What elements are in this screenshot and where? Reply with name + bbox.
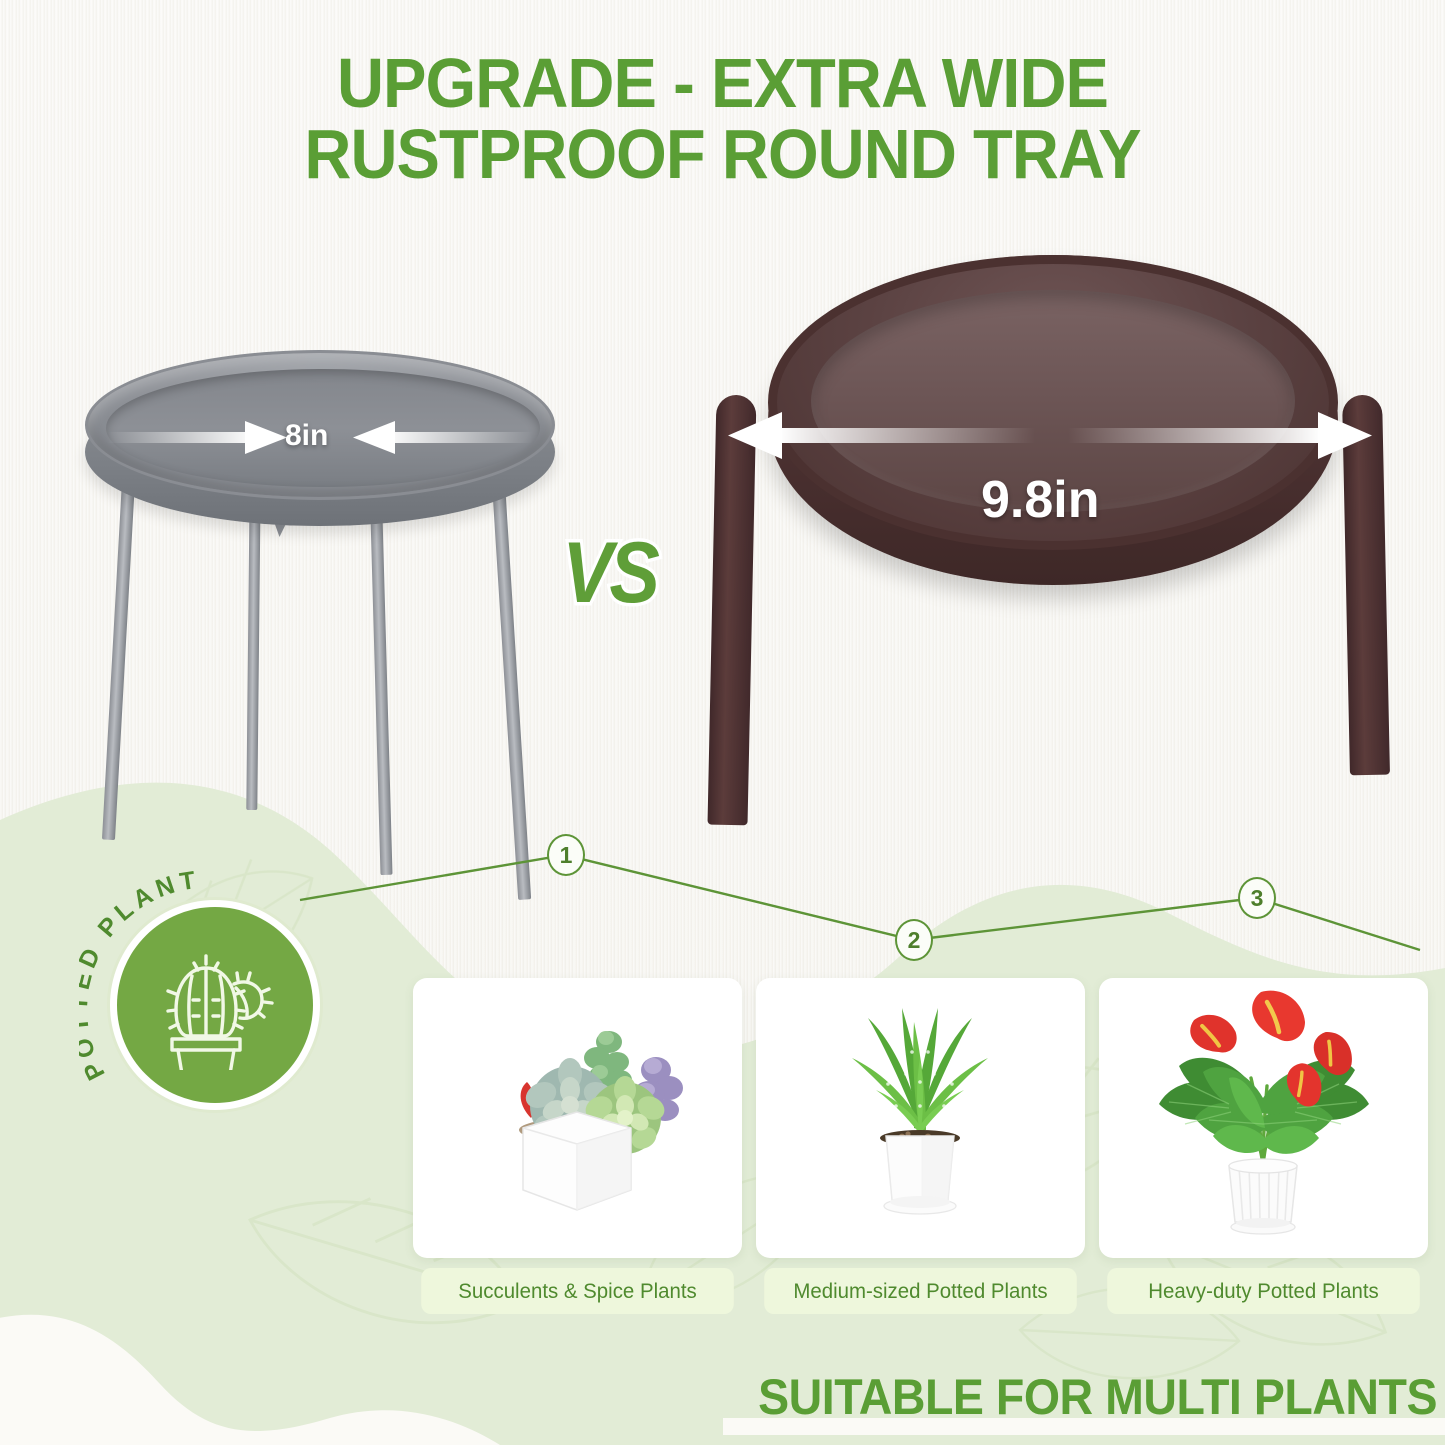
potted-plant-badge: POTTED PLANT — [95, 885, 335, 1125]
anthurium-plant-icon — [1099, 978, 1428, 1258]
plant-card[interactable] — [413, 978, 742, 1258]
succulent-arrangement-icon — [413, 978, 742, 1258]
aloe-vera-plant-icon — [756, 978, 1085, 1258]
footer-headline: SUITABLE FOR MULTI PLANTS — [758, 1368, 1437, 1426]
connector-node-1: 1 — [547, 834, 585, 876]
plant-caption: Succulents & Spice Plants — [421, 1268, 734, 1314]
plant-card[interactable] — [756, 978, 1085, 1258]
plant-caption: Medium-sized Potted Plants — [764, 1268, 1077, 1314]
infographic-stage: UPGRADE - EXTRA WIDE RUSTPROOF ROUND TRA… — [0, 0, 1445, 1445]
cactus-in-pot-icon — [150, 940, 280, 1070]
brown-dimension-arrows — [710, 395, 1390, 475]
gray-dimension-label: 8in — [285, 419, 328, 453]
plant-cards — [413, 978, 1428, 1258]
page-title: UPGRADE - EXTRA WIDE RUSTPROOF ROUND TRA… — [51, 48, 1395, 191]
plant-captions: Succulents & Spice Plants Medium-sized P… — [413, 1268, 1428, 1314]
vs-label: VS — [562, 524, 656, 623]
brown-dimension-label: 9.8in — [981, 470, 1100, 530]
plant-card[interactable] — [1099, 978, 1428, 1258]
plant-caption: Heavy-duty Potted Plants — [1107, 1268, 1420, 1314]
connector-node-3: 3 — [1238, 877, 1276, 919]
connector-node-2: 2 — [895, 919, 933, 961]
